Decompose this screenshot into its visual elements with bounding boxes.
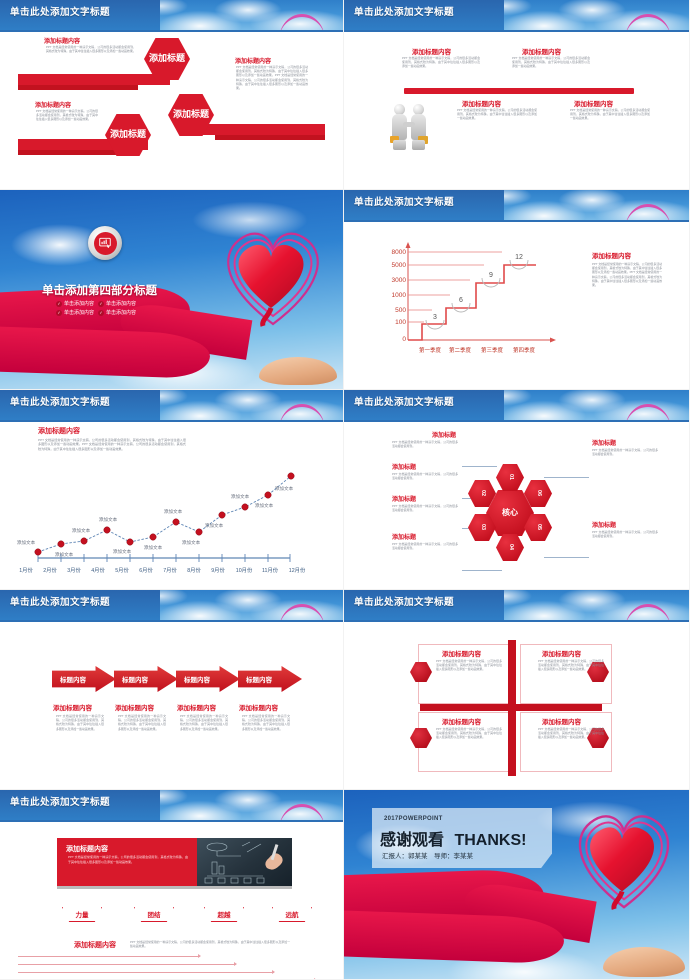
quadrant-text-4: PPT 文档是经常使用的一种演示文稿，公司的很多活动都会使用到，其格式较为特殊，…: [538, 727, 604, 740]
process-arrow-1[interactable]: 标题内容: [52, 666, 116, 692]
divider-bar: [404, 88, 634, 94]
svg-text:3: 3: [433, 314, 437, 321]
cup-label-2-text: 团结: [148, 909, 161, 919]
hand-graphic: [603, 947, 685, 977]
quadrant-heading-3: 添加标题内容: [442, 716, 481, 726]
svg-text:9月份: 9月份: [211, 566, 225, 574]
step-heading-2: 添加标题内容: [115, 702, 154, 712]
slide-title: 单击此处添加文字标题: [10, 4, 110, 18]
hex-badge-3-line1: 添加: [173, 110, 191, 119]
callout-text-4: PPT 文档是经常使用的一种演示文稿，公司的很多活动都会使用到。: [392, 542, 458, 550]
accent-arrow-2: [18, 964, 236, 965]
body-text-3: PPT 文档是经常使用的一种演示文稿，公司的很多活动都会使用到，其格式较为特殊，…: [457, 108, 537, 121]
slide-6[interactable]: 单击此处添加文字标题 核心 01 02 03 04: [344, 390, 690, 590]
bullet-label-1: 单击添加内容: [64, 300, 94, 307]
svg-text:12月份: 12月份: [289, 566, 306, 574]
svg-text:添加文本: 添加文本: [182, 539, 201, 546]
svg-text:10月份: 10月份: [236, 566, 253, 574]
blackboard-sketch: [197, 838, 292, 886]
svg-text:3000: 3000: [392, 277, 407, 284]
slide-1[interactable]: 单击此处添加文字标题 添加标题内容 PPT 文档是经常使用的一种演示文稿，公司的…: [0, 0, 344, 190]
leader-line-5: [544, 477, 589, 478]
bullet-dot-icon: ✓: [98, 310, 104, 316]
slide-7-body: 标题内容 标题内容 标题内容 标题内容 添加标题内容 PPT 文档是经常使用的一…: [0, 622, 343, 789]
svg-text:4月份: 4月份: [91, 566, 105, 574]
hex-04-label: 04: [507, 544, 513, 550]
byline-text: 汇报人：郭某某 导师：李某某: [382, 850, 473, 860]
svg-text:添加文本: 添加文本: [99, 516, 118, 523]
process-arrow-4[interactable]: 标题内容: [238, 666, 302, 692]
slide-9-body: 添加标题内容 PPT 文档是经常使用的一种演示文稿，公司的很多活动都会使用到，其…: [0, 822, 343, 979]
process-arrow-3[interactable]: 标题内容: [176, 666, 240, 692]
callout-heading-2: 添加标题: [392, 462, 416, 471]
heading-4: 添加标题内容: [574, 98, 613, 108]
hex-core-label: 核心: [502, 509, 518, 517]
heart-icon: [213, 216, 333, 331]
accent-arrow-3: [18, 972, 274, 973]
bullet-item-1[interactable]: ✓单击添加内容: [56, 300, 94, 307]
svg-text:添加文本: 添加文本: [113, 548, 132, 555]
eyebrow-text: 2017POWERPOINT: [384, 816, 443, 822]
hex-badge-2-line2: 标题: [128, 130, 146, 139]
svg-text:添加文本: 添加文本: [17, 539, 36, 546]
hex-03-label: 03: [479, 524, 485, 530]
cup-label-1[interactable]: 力量: [62, 907, 102, 922]
slide-title: 单击此处添加文字标题: [354, 194, 454, 208]
svg-text:3月份: 3月份: [67, 566, 81, 574]
svg-text:1000: 1000: [392, 292, 407, 299]
bullet-label-2: 单击添加内容: [106, 300, 136, 307]
svg-text:7月份: 7月份: [163, 566, 177, 574]
svg-text:添加文本: 添加文本: [55, 551, 74, 558]
banner-heading: 添加标题内容: [66, 844, 108, 854]
slide-5-body: 添加标题内容 PPT 文档是经常使用的一种演示文稿，公司的很多活动都会使用到，其…: [0, 422, 343, 589]
thanks-headline: 感谢观看 THANKS!: [380, 826, 526, 850]
line-chart: 添加文本 添加文本 添加文本 添加文本 添加文本 添加文本 添加文本 添加文本 …: [8, 462, 338, 580]
red-bar-1-tail: [18, 85, 138, 90]
callout-text-3: PPT 文档是经常使用的一种演示文稿，公司的很多活动都会使用到。: [392, 504, 458, 512]
slide-2-body: 添加标题内容 PPT 文档是经常使用的一种演示文稿，公司的很多活动都会使用到，其…: [344, 32, 689, 189]
chart-heading: 添加标题内容: [38, 426, 80, 436]
slide-8[interactable]: 单击此处添加文字标题 添加标题内容 PPT 文档是经常使用的一种演示文稿，公司的…: [344, 590, 690, 790]
heart-graphic: [213, 216, 333, 331]
presentation-chart-icon: [94, 232, 117, 255]
quadrant-heading-2: 添加标题内容: [542, 648, 581, 658]
bullet-label-4: 单击添加内容: [106, 309, 136, 316]
hex-06-label: 06: [535, 490, 541, 496]
svg-text:5000: 5000: [392, 262, 407, 269]
bullet-item-2[interactable]: ✓单击添加内容: [98, 300, 136, 307]
section-title: 单击添加第四部分标题: [42, 282, 157, 298]
bullet-dot-icon: ✓: [98, 301, 104, 307]
bullet-item-3[interactable]: ✓单击添加内容: [56, 309, 94, 316]
slide-2[interactable]: 单击此处添加文字标题 添加标题内容 PPT 文档是经常使用的一种演示文稿，公司的…: [344, 0, 690, 190]
svg-text:添加文本: 添加文本: [205, 522, 224, 529]
process-arrow-3-label: 标题内容: [184, 674, 210, 684]
heading-3: 添加标题内容: [462, 98, 501, 108]
blackboard-photo: [197, 838, 292, 886]
body-text-2: PPT 文档是经常使用的一种演示文稿，公司的很多活动都会使用到，其格式较为特殊，…: [512, 56, 590, 69]
quadrant-text-3: PPT 文档是经常使用的一种演示文稿，公司的很多活动都会使用到，其格式较为特殊，…: [436, 727, 502, 740]
section-icon-badge: [88, 226, 122, 260]
process-arrow-2[interactable]: 标题内容: [114, 666, 178, 692]
quadrant-heading-4: 添加标题内容: [542, 716, 581, 726]
bottom-heading: 添加标题内容: [74, 940, 116, 950]
bullet-label-3: 单击添加内容: [64, 309, 94, 316]
leader-line-4: [462, 570, 502, 571]
section-title-slide: 单击添加第四部分标题 ✓单击添加内容 ✓单击添加内容 ✓单击添加内容 ✓单击添加…: [0, 190, 343, 389]
quadrant-text-1: PPT 文档是经常使用的一种演示文稿，公司的很多活动都会使用到，其格式较为特殊，…: [436, 659, 502, 672]
thanks-headline-en: THANKS!: [448, 832, 526, 849]
cup-label-3-text: 超越: [218, 909, 231, 919]
body-text-1: PPT 文档是经常使用的一种演示文稿，公司的很多活动都会使用到，其格式较为特殊，…: [46, 45, 136, 53]
svg-text:500: 500: [395, 307, 406, 314]
slide-6-body: 核心 01 02 03 04 05 06 添加标题 PPT 文档是经常使用的一种…: [344, 422, 689, 589]
bullet-dot-icon: ✓: [56, 310, 62, 316]
slide-thumbnail-grid: 单击此处添加文字标题 添加标题内容 PPT 文档是经常使用的一种演示文稿，公司的…: [0, 0, 690, 980]
slide-title: 单击此处添加文字标题: [10, 394, 110, 408]
svg-text:2月份: 2月份: [43, 566, 57, 574]
callout-text-2: PPT 文档是经常使用的一种演示文稿，公司的很多活动都会使用到。: [392, 472, 458, 480]
svg-text:添加文本: 添加文本: [144, 544, 163, 551]
slide-title: 单击此处添加文字标题: [354, 594, 454, 608]
hex-01[interactable]: 01: [496, 464, 524, 491]
slide-10[interactable]: 2017POWERPOINT 感谢观看 THANKS! 汇报人：郭某某 导师：李…: [344, 790, 690, 980]
heading-1: 添加标题内容: [412, 46, 451, 56]
svg-text:5月份: 5月份: [115, 566, 129, 574]
heading-2: 添加标题内容: [522, 46, 561, 56]
body-text-4: PPT 文档是经常使用的一种演示文稿，公司的很多活动都会使用到，其格式较为特殊，…: [570, 108, 650, 121]
heading-3: 添加标题内容: [35, 100, 71, 109]
step-heading-3: 添加标题内容: [177, 702, 216, 712]
quadrant-heading-1: 添加标题内容: [442, 648, 481, 658]
svg-text:添加文本: 添加文本: [275, 485, 294, 492]
step-heading-1: 添加标题内容: [53, 702, 92, 712]
thanks-headline-cn: 感谢观看: [380, 832, 444, 849]
step-text-1: PPT 文档是经常使用的一种演示文稿，公司的很多活动都会使用到，其格式较为特殊，…: [56, 714, 104, 731]
svg-text:9: 9: [489, 272, 493, 279]
callout-heading-4: 添加标题: [392, 532, 416, 541]
callout-text-6: PPT 文档是经常使用的一种演示文稿，公司的很多活动都会使用到。: [592, 530, 658, 538]
heart-graphic: [565, 798, 683, 916]
slide-4[interactable]: 单击此处添加文字标题: [344, 190, 690, 390]
hex-02-label: 02: [479, 490, 485, 496]
red-bar-3: [190, 124, 325, 135]
svg-text:12: 12: [515, 254, 523, 261]
thanks-slide: 2017POWERPOINT 感谢观看 THANKS! 汇报人：郭某某 导师：李…: [344, 790, 689, 979]
svg-text:6: 6: [459, 297, 463, 304]
cup-label-1-text: 力量: [76, 909, 89, 919]
chart-body-text: PPT 文档是经常使用的一种演示文稿，公司的很多活动都会使用到，其格式较为特殊，…: [38, 438, 186, 451]
svg-text:第一季度: 第一季度: [419, 346, 442, 354]
body-text-1: PPT 文档是经常使用的一种演示文稿，公司的很多活动都会使用到，其格式较为特殊，…: [402, 56, 480, 69]
callout-heading-3: 添加标题: [392, 494, 416, 503]
callout-heading-1: 添加标题: [432, 430, 456, 439]
svg-text:100: 100: [395, 319, 406, 326]
side-body-text: PPT 文档是经常使用的一种演示文稿，公司的很多活动都会使用到，其格式较为特殊，…: [592, 262, 662, 287]
svg-text:第三季度: 第三季度: [481, 346, 504, 354]
body-text-3: PPT 文档是经常使用的一种演示文稿，公司的很多活动都会使用到，其格式较为特殊，…: [36, 109, 98, 122]
svg-text:添加文本: 添加文本: [255, 502, 274, 509]
hex-badge-3-line2: 标题: [191, 110, 209, 119]
svg-text:第二季度: 第二季度: [449, 346, 472, 354]
red-bar-3-tail: [215, 135, 325, 140]
callout-text-1: PPT 文档是经常使用的一种演示文稿，公司的很多活动都会使用到。: [392, 440, 458, 448]
process-arrow-1-label: 标题内容: [60, 674, 86, 684]
banner-text: PPT 文档是经常使用的一种演示文稿，公司的很多活动都会使用到，其格式较为特殊，…: [68, 855, 188, 864]
step-text-3: PPT 文档是经常使用的一种演示文稿，公司的很多活动都会使用到，其格式较为特殊，…: [180, 714, 228, 731]
slide-1-body: 添加标题内容 PPT 文档是经常使用的一种演示文稿，公司的很多活动都会使用到，其…: [0, 32, 343, 189]
cup-label-2[interactable]: 团结: [134, 907, 174, 922]
line-chart-svg: 添加文本 添加文本 添加文本 添加文本 添加文本 添加文本 添加文本 添加文本 …: [8, 462, 338, 580]
callout-heading-6: 添加标题: [592, 520, 616, 529]
slide-title: 单击此处添加文字标题: [354, 4, 454, 18]
callout-heading-5: 添加标题: [592, 438, 616, 447]
heart-icon: [565, 798, 683, 916]
cup-label-3[interactable]: 超越: [204, 907, 244, 922]
cup-label-4[interactable]: 远航: [272, 907, 312, 922]
red-bar-1: [18, 74, 170, 85]
bullet-dot-icon: ✓: [56, 301, 62, 307]
svg-text:6月份: 6月份: [139, 566, 153, 574]
step-text-4: PPT 文档是经常使用的一种演示文稿，公司的很多活动都会使用到，其格式较为特殊，…: [242, 714, 290, 731]
banner-shadow: [57, 886, 292, 889]
svg-text:0: 0: [402, 336, 406, 343]
slide-title: 单击此处添加文字标题: [10, 794, 110, 808]
hand-graphic: [259, 357, 337, 385]
handshake-figures-image: [388, 100, 438, 155]
body-text-2: PPT 文档是经常使用的一种演示文稿，公司的很多活动都会使用到，其格式较为特殊，…: [236, 65, 308, 90]
leader-line-1: [462, 466, 497, 467]
chart-glyph: [98, 236, 112, 250]
accent-arrow-1: [18, 956, 200, 957]
side-heading: 添加标题内容: [592, 250, 631, 260]
slide-8-body: 添加标题内容 PPT 文档是经常使用的一种演示文稿，公司的很多活动都会使用到，其…: [344, 622, 689, 789]
process-arrow-2-label: 标题内容: [122, 674, 148, 684]
red-bar-2-tail: [18, 150, 118, 155]
slide-title: 单击此处添加文字标题: [10, 594, 110, 608]
step-heading-4: 添加标题内容: [239, 702, 278, 712]
heading-1: 添加标题内容: [44, 36, 80, 45]
quadrant-text-2: PPT 文档是经常使用的一种演示文稿，公司的很多活动都会使用到，其格式较为特殊，…: [538, 659, 604, 672]
svg-text:11月份: 11月份: [262, 566, 279, 574]
heading-2: 添加标题内容: [235, 56, 271, 65]
step-chart: 8000 5000 3000 1000 500 100 0: [384, 240, 564, 360]
slide-7[interactable]: 单击此处添加文字标题 标题内容 标题内容 标题内容 标题内容 添加标题内容 PP…: [0, 590, 344, 790]
hex-badge-2-line1: 添加: [110, 130, 128, 139]
svg-text:8月份: 8月份: [187, 566, 201, 574]
hex-05-label: 05: [535, 524, 541, 530]
slide-4-body: 8000 5000 3000 1000 500 100 0: [344, 222, 689, 389]
svg-text:第四季度: 第四季度: [513, 346, 536, 354]
cross-horizontal-bar: [420, 704, 602, 711]
slide-title: 单击此处添加文字标题: [354, 394, 454, 408]
cup-label-4-text: 远航: [286, 909, 299, 919]
slide-3[interactable]: 单击添加第四部分标题 ✓单击添加内容 ✓单击添加内容 ✓单击添加内容 ✓单击添加…: [0, 190, 344, 390]
hex-badge-1-line2: 标题: [167, 54, 185, 63]
process-arrow-4-label: 标题内容: [246, 674, 272, 684]
bullet-item-4[interactable]: ✓单击添加内容: [98, 309, 136, 316]
leader-line-6: [544, 557, 589, 558]
hex-01-label: 01: [507, 474, 513, 480]
step-chart-svg: 8000 5000 3000 1000 500 100 0: [384, 240, 564, 360]
hex-04[interactable]: 04: [496, 534, 524, 561]
slide-9[interactable]: 单击此处添加文字标题: [0, 790, 344, 980]
callout-text-5: PPT 文档是经常使用的一种演示文稿，公司的很多活动都会使用到。: [592, 448, 658, 456]
svg-text:添加文本: 添加文本: [164, 508, 183, 515]
section-bullet-list: ✓单击添加内容 ✓单击添加内容 ✓单击添加内容 ✓单击添加内容: [56, 300, 136, 316]
hex-badge-1-line1: 添加: [149, 54, 167, 63]
bottom-text: PPT 文档是经常使用的一种演示文稿，公司的很多活动都会使用到，其格式较为特殊，…: [130, 940, 290, 948]
step-text-2: PPT 文档是经常使用的一种演示文稿，公司的很多活动都会使用到，其格式较为特殊，…: [118, 714, 166, 731]
svg-text:8000: 8000: [392, 249, 407, 256]
svg-text:添加文本: 添加文本: [231, 493, 250, 500]
svg-text:添加文本: 添加文本: [72, 527, 91, 534]
svg-text:1月份: 1月份: [19, 566, 33, 574]
slide-5[interactable]: 单击此处添加文字标题 添加标题内容 PPT 文档是经常使用的一种演示文稿，公司的…: [0, 390, 344, 590]
